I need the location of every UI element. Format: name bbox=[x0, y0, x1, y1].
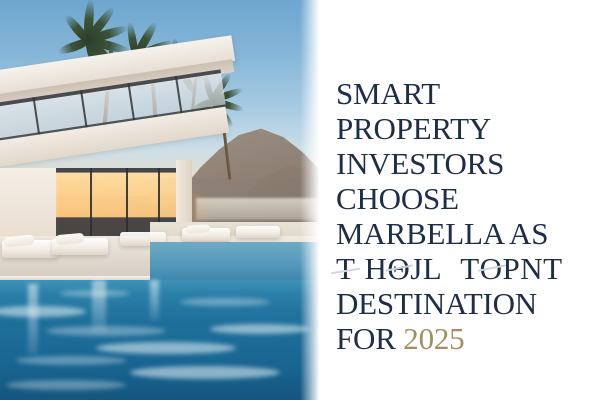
headline-line-6-corrupted: THΘJlTOPNT bbox=[336, 251, 588, 286]
pool-water bbox=[0, 280, 319, 400]
glyph-h: H bbox=[364, 251, 387, 286]
glyph-jl: Jl bbox=[410, 251, 442, 286]
marbella-property-banner: SMART PROPERTY INVESTORS CHOOSE MARBELLA… bbox=[0, 0, 600, 400]
glyph-theta: Θ bbox=[387, 251, 410, 286]
headline-panel: SMART PROPERTY INVESTORS CHOOSE MARBELLA… bbox=[319, 0, 600, 400]
villa-pool-photograph bbox=[0, 0, 319, 400]
photo-white-fade bbox=[300, 0, 319, 400]
glyph-t2: T bbox=[460, 251, 479, 286]
headline-line-5: MARBELLA AS bbox=[336, 216, 588, 251]
glyph-pnt: PNT bbox=[503, 251, 563, 286]
headline-line-1: SMART bbox=[336, 76, 588, 111]
glyph-o-struck: O bbox=[480, 251, 503, 286]
headline-line-8: FOR 2025 bbox=[336, 321, 588, 356]
headline-line-2: PROPERTY bbox=[336, 111, 588, 146]
headline-line-7: DESTINATION bbox=[336, 286, 588, 321]
headline-for-prefix: FOR bbox=[336, 321, 403, 356]
headline-year: 2025 bbox=[403, 321, 464, 356]
glyph-t: T bbox=[336, 251, 355, 286]
headline-line-4: CHOOSE bbox=[336, 181, 588, 216]
lounger-3-cushion bbox=[186, 224, 210, 234]
lounger-4 bbox=[236, 226, 280, 238]
headline-line-3: INVESTORS bbox=[336, 146, 588, 181]
page-title: SMART PROPERTY INVESTORS CHOOSE MARBELLA… bbox=[336, 76, 588, 356]
